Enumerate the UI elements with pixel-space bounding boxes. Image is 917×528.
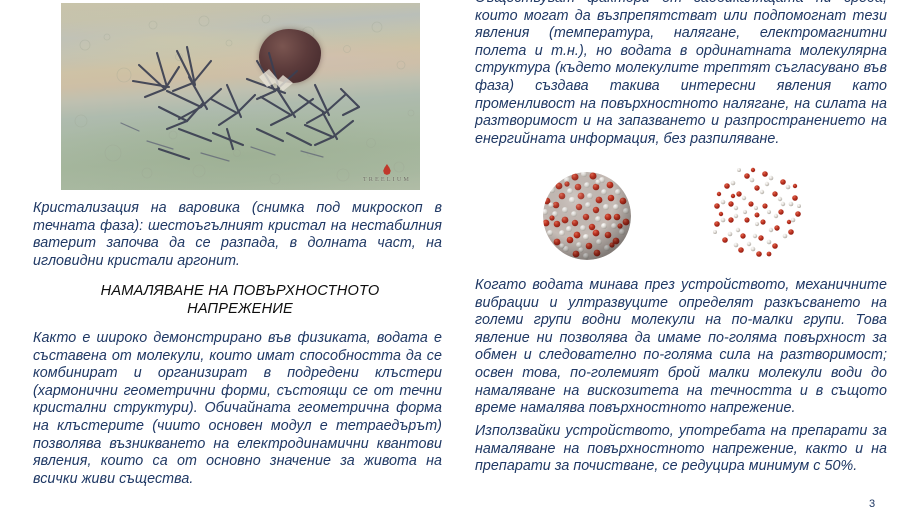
page-number: 3 [869,498,875,510]
left-body-paragraph: Както е широко демонстрирано във физикат… [33,330,442,488]
right-body-block-1: Съществуват фактори от заобикалящата ни … [475,0,887,148]
left-body-block: Както е широко демонстрирано във физикат… [33,330,442,488]
photo-aragonite-crystals [61,3,420,190]
document-page: TREELIUM Кристализация на варовика (сним… [0,0,917,528]
right-paragraph-1: Съществуват фактори от заобикалящата ни … [475,0,887,148]
treelium-watermark: TREELIUM [363,164,411,184]
left-column: TREELIUM Кристализация на варовика (сним… [28,0,442,528]
watermark-brand-label: TREELIUM [363,176,411,183]
section-heading: НАМАЛЯВАНЕ НА ПОВЪРХНОСТНОТО НАПРЕЖЕНИЕ [55,282,425,318]
section-heading-line-2: НАПРЕЖЕНИЕ [55,300,425,318]
right-paragraph-3: Използвайки устройството, употребата на … [475,423,887,476]
right-paragraph-2: Когато водата минава през устройството, … [475,277,887,418]
figure-caption-text: Кристализация на варовика (снимка под ми… [33,200,442,270]
right-body-block-3: Използвайки устройството, употребата на … [475,423,887,476]
figure-caption: Кристализация на варовика (снимка под ми… [33,200,442,270]
water-cluster-dense-art [532,160,642,270]
right-column: Съществуват фактори от заобикалящата ни … [475,0,887,528]
microscope-photo: TREELIUM [61,3,420,190]
section-heading-line-1: НАМАЛЯВАНЕ НА ПОВЪРХНОСТНОТО [55,282,425,300]
water-cluster-figures [475,160,887,270]
water-cluster-dense [532,160,642,270]
water-cluster-dispersed-art [703,160,813,270]
flame-icon [382,164,391,175]
right-body-block-2: Когато водата минава през устройството, … [475,277,887,418]
water-cluster-dispersed [703,160,813,270]
